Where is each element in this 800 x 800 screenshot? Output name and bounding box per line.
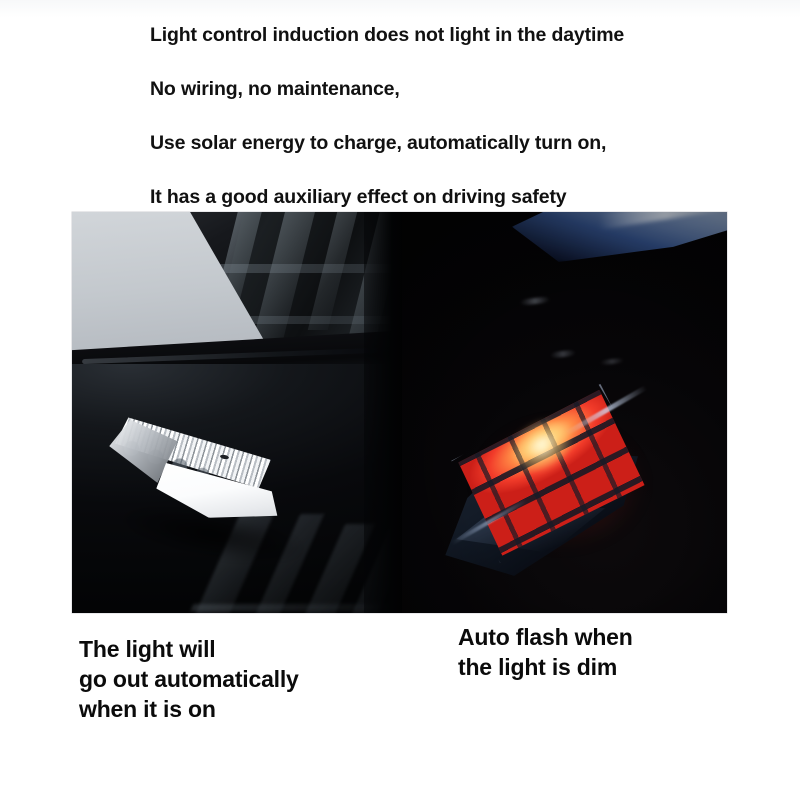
product-photo-strip [72, 212, 727, 613]
feature-line-1: Light control induction does not light i… [150, 26, 624, 46]
feature-line-2: No wiring, no maintenance, [150, 80, 400, 100]
photo-night-light-on [402, 212, 727, 613]
feature-line-3: Use solar energy to charge, automaticall… [150, 134, 606, 154]
photo-daytime-light-off [72, 212, 402, 613]
hood-shadow-band [364, 212, 402, 613]
solar-led-light-unit-on [440, 400, 652, 580]
feature-line-4: It has a good auxiliary effect on drivin… [150, 188, 567, 208]
caption-left: The light will go out automatically when… [79, 634, 299, 724]
caption-right: Auto flash when the light is dim [458, 622, 633, 682]
product-feature-page: Light control induction does not light i… [0, 0, 800, 800]
